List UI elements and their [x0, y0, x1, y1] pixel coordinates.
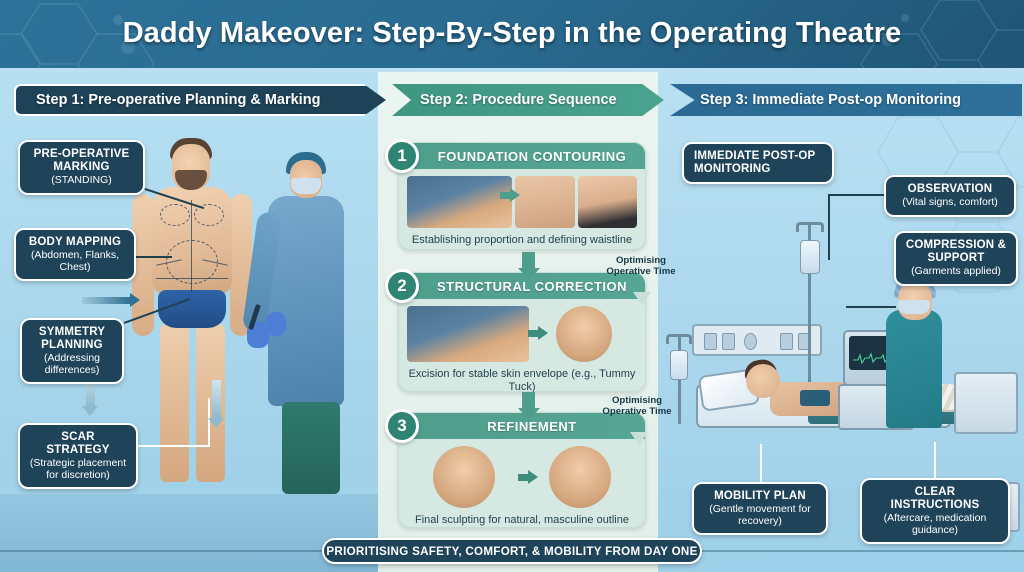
callout-title: CLEAR INSTRUCTIONS	[870, 486, 1000, 512]
connector-compression	[846, 306, 896, 308]
callout-scar-strategy[interactable]: SCAR STRATEGY (Strategic placement for d…	[18, 423, 138, 489]
callout-title: MOBILITY PLAN	[702, 490, 818, 503]
note-tail-1	[633, 292, 651, 305]
note-tail-2	[630, 432, 648, 445]
connector-instructions	[934, 442, 936, 480]
photo-abdomen-after	[578, 176, 637, 228]
photo-chest-result	[556, 306, 612, 362]
wall-outlet-2	[722, 333, 735, 350]
arrow-card2-to-card3	[518, 392, 538, 420]
callout-symmetry-planning[interactable]: SYMMETRY PLANNING (Addressing difference…	[20, 318, 124, 384]
side-equipment-cart	[954, 372, 1018, 434]
poster-header: Daddy Makeover: Step-By-Step in the Oper…	[0, 0, 1024, 72]
blood-pressure-cuff-icon	[800, 390, 830, 406]
procedure-card-1[interactable]: 1 FOUNDATION CONTOURING Establishing pro…	[398, 142, 646, 250]
connector-observation-vertical	[828, 194, 830, 260]
callout-body-mapping[interactable]: BODY MAPPING (Abdomen, Flanks, Chest)	[14, 228, 136, 281]
patient-briefs	[158, 290, 226, 328]
wall-equipment-panel	[692, 324, 822, 356]
callout-pre-operative-marking[interactable]: PRE-OPERATIVE MARKING (STANDING)	[18, 140, 145, 195]
page-title: Daddy Makeover: Step-By-Step in the Oper…	[0, 17, 1024, 50]
callout-title: SYMMETRY PLANNING	[30, 326, 114, 352]
callout-title: SCAR STRATEGY	[28, 431, 128, 457]
nurse-mask-icon	[898, 300, 930, 314]
photo-excision-suture	[407, 306, 529, 362]
note-optimising-operative-time-2: Optimising Operative Time	[600, 396, 674, 417]
photo-refinement-before	[433, 446, 495, 508]
marking-line-waist	[156, 278, 228, 279]
photo-refinement-after	[549, 446, 611, 508]
arrow-in-card-3	[518, 470, 540, 484]
step-number-badge: 3	[385, 409, 419, 443]
banner-rule-left	[0, 550, 330, 552]
nurse-scrubs	[886, 310, 942, 428]
callout-subtitle: (Vital signs, comfort)	[894, 197, 1006, 209]
arrow-right-bodymap	[82, 293, 142, 307]
footer-banner: PRIORITISING SAFETY, COMFORT, & MOBILITY…	[322, 538, 702, 564]
callout-title: IMMEDIATE POST-OP MONITORING	[694, 150, 824, 176]
surgeon-mask-icon	[291, 178, 321, 194]
arrow-down-symmetry	[208, 380, 224, 428]
step-header-3[interactable]: Step 3: Immediate Post-op Monitoring	[670, 84, 1022, 116]
footer-banner-text: PRIORITISING SAFETY, COMFORT, & MOBILITY…	[326, 545, 697, 558]
floor-shadow	[0, 494, 378, 572]
callout-compression-support[interactable]: COMPRESSION & SUPPORT (Garments applied)	[894, 231, 1018, 286]
procedure-card-2-images	[399, 299, 645, 362]
marking-circle-chest-left	[160, 204, 190, 226]
callout-mobility-plan[interactable]: MOBILITY PLAN (Gentle movement for recov…	[692, 482, 828, 535]
surgeon-scrub-legs	[282, 402, 340, 494]
connector-scar-to-body	[138, 445, 210, 447]
banner-rule-right	[694, 550, 1024, 552]
photo-liposuction-procedure	[407, 176, 512, 228]
surgeon-glove-right	[266, 312, 286, 336]
callout-subtitle: (Garments applied)	[904, 266, 1008, 278]
step-3-label: Step 3: Immediate Post-op Monitoring	[700, 92, 961, 108]
callout-subtitle: (Strategic placement for discretion)	[28, 458, 128, 482]
wall-gauge-icon	[744, 333, 757, 350]
patient-head-postop	[746, 364, 780, 398]
callout-subtitle: (STANDING)	[28, 175, 135, 187]
procedure-card-1-images	[399, 169, 645, 228]
callout-title: COMPRESSION & SUPPORT	[904, 239, 1008, 265]
step-1-label: Step 1: Pre-operative Planning & Marking	[36, 92, 320, 108]
note-optimising-operative-time-1: Optimising Operative Time	[604, 256, 678, 277]
callout-title: BODY MAPPING	[24, 236, 126, 249]
step-header-1[interactable]: Step 1: Pre-operative Planning & Marking	[14, 84, 386, 116]
iv-bag	[800, 240, 820, 274]
callout-immediate-postop-monitoring[interactable]: IMMEDIATE POST-OP MONITORING	[682, 142, 834, 184]
callout-subtitle: (Aftercare, medication guidance)	[870, 513, 1000, 537]
callout-title: OBSERVATION	[894, 183, 1006, 196]
arrow-card1-to-card2	[518, 252, 538, 280]
connector-bodymap-to-body	[136, 256, 172, 258]
step-number-badge: 1	[385, 139, 419, 173]
procedure-card-3-caption: Final sculpting for natural, masculine o…	[399, 508, 645, 535]
callout-clear-instructions[interactable]: CLEAR INSTRUCTIONS (Aftercare, medicatio…	[860, 478, 1010, 544]
infographic-poster: Daddy Makeover: Step-By-Step in the Oper…	[0, 0, 1024, 572]
callout-subtitle: (Abdomen, Flanks, Chest)	[24, 250, 126, 274]
callout-observation[interactable]: OBSERVATION (Vital signs, comfort)	[884, 175, 1016, 217]
callout-title: PRE-OPERATIVE MARKING	[28, 148, 135, 174]
iv-bag-secondary	[670, 350, 688, 380]
procedure-card-2[interactable]: 2 STRUCTURAL CORRECTION Excision for sta…	[398, 272, 646, 392]
step-header-2[interactable]: Step 2: Procedure Sequence	[392, 84, 664, 116]
procedure-card-1-title: FOUNDATION CONTOURING	[399, 143, 645, 169]
connector-mobility	[760, 444, 762, 484]
wall-outlet-3	[780, 333, 793, 350]
arrow-in-card-1	[500, 188, 522, 202]
photo-abdomen-before	[515, 176, 574, 228]
wall-outlet-1	[704, 333, 717, 350]
step-2-label: Step 2: Procedure Sequence	[420, 92, 617, 108]
connector-observation	[828, 194, 886, 196]
patient-left-leg	[160, 322, 189, 482]
step-number-badge: 2	[385, 269, 419, 303]
callout-subtitle: (Addressing differences)	[30, 353, 114, 377]
callout-subtitle: (Gentle movement for recovery)	[702, 504, 818, 528]
arrow-in-card-2	[528, 326, 550, 340]
